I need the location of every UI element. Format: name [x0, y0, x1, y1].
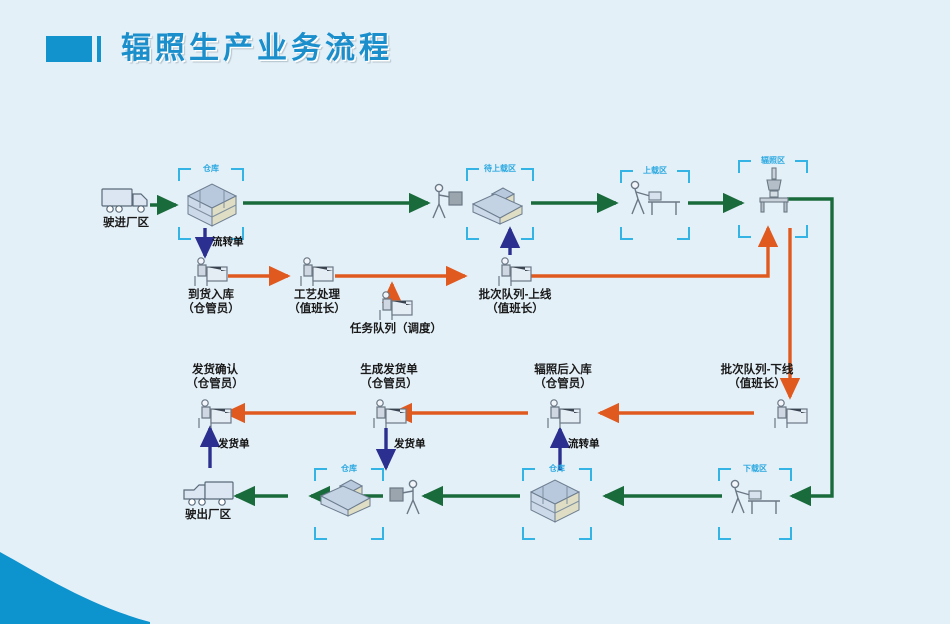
irradiation-device-icon	[752, 166, 796, 214]
zone-label-unload-area: 下载区	[718, 464, 792, 473]
edge-label-delivery-note-mid: 发货单	[394, 438, 426, 450]
title-bar-marker	[97, 36, 101, 62]
warehouse-post-boxes-icon	[527, 474, 583, 522]
process-handling-icon	[296, 256, 336, 288]
worker-carrying-box-icon-2	[388, 478, 424, 518]
green-flow-arrows	[150, 199, 832, 496]
delivery-confirm-label: 发货确认	[160, 363, 270, 377]
truck-in-icon	[100, 185, 152, 217]
create-delivery-note-icon	[369, 398, 409, 430]
zone-label-pre-load-area: 待上载区	[466, 164, 534, 173]
corner-decoration	[0, 544, 210, 624]
batch-queue-offline-label: 批次队列-下线	[702, 363, 812, 377]
post-irradiation-storage-sub: （仓管员）	[508, 377, 618, 391]
arrival-storage-label: 到货入库	[166, 288, 256, 302]
truck-out-icon	[182, 478, 236, 512]
edge-label-transfer-note-top: 流转单	[212, 236, 244, 248]
zone-label-irradiation-area: 辐照区	[738, 156, 808, 165]
worker-at-conveyor-icon-1	[626, 178, 684, 222]
task-queue-label: 任务队列（调度）	[340, 322, 452, 336]
edge-label-delivery-note-left: 发货单	[218, 438, 250, 450]
delivery-confirm-icon	[194, 398, 234, 430]
create-delivery-note-sub: （仓管员）	[334, 377, 444, 391]
batch-queue-online-icon	[494, 256, 534, 288]
process-handling-sub: （值班长）	[272, 302, 362, 316]
arrival-storage-icon	[190, 256, 230, 288]
post-irradiation-storage-icon	[543, 398, 583, 430]
worker-carrying-box-icon-1	[428, 182, 464, 222]
slide-canvas: 辐照生产业务流程	[0, 0, 950, 624]
title-square-marker	[46, 36, 92, 62]
create-delivery-note-label: 生成发货单	[334, 363, 444, 377]
truck-out-label: 驶出厂区	[168, 508, 248, 522]
truck-in-label: 驶进厂区	[86, 216, 166, 230]
batch-queue-offline-sub: （值班长）	[702, 377, 812, 391]
worker-at-conveyor-icon-2	[726, 477, 784, 521]
warehouse-out-boxes-icon	[318, 480, 376, 520]
zone-label-warehouse-post: 仓库	[522, 464, 592, 473]
page-title: 辐照生产业务流程	[121, 34, 393, 64]
pre-load-boxes-icon	[470, 186, 528, 226]
delivery-confirm-sub: （仓管员）	[160, 377, 270, 391]
batch-queue-online-label: 批次队列-上线	[460, 288, 570, 302]
post-irradiation-storage-label: 辐照后入库	[508, 363, 618, 377]
slide-title-row: 辐照生产业务流程	[46, 34, 393, 64]
batch-queue-offline-icon	[770, 398, 810, 430]
zone-label-warehouse-out: 仓库	[314, 464, 384, 473]
zone-label-load-area: 上载区	[620, 166, 690, 175]
process-handling-label: 工艺处理	[272, 288, 362, 302]
task-queue-icon	[375, 290, 415, 322]
edge-label-transfer-note-bottom: 流转单	[568, 438, 600, 450]
warehouse-in-boxes-icon	[184, 178, 240, 226]
zone-label-warehouse-in: 仓库	[178, 164, 244, 173]
arrival-storage-sub: （仓管员）	[166, 302, 256, 316]
batch-queue-online-sub: （值班长）	[460, 302, 570, 316]
